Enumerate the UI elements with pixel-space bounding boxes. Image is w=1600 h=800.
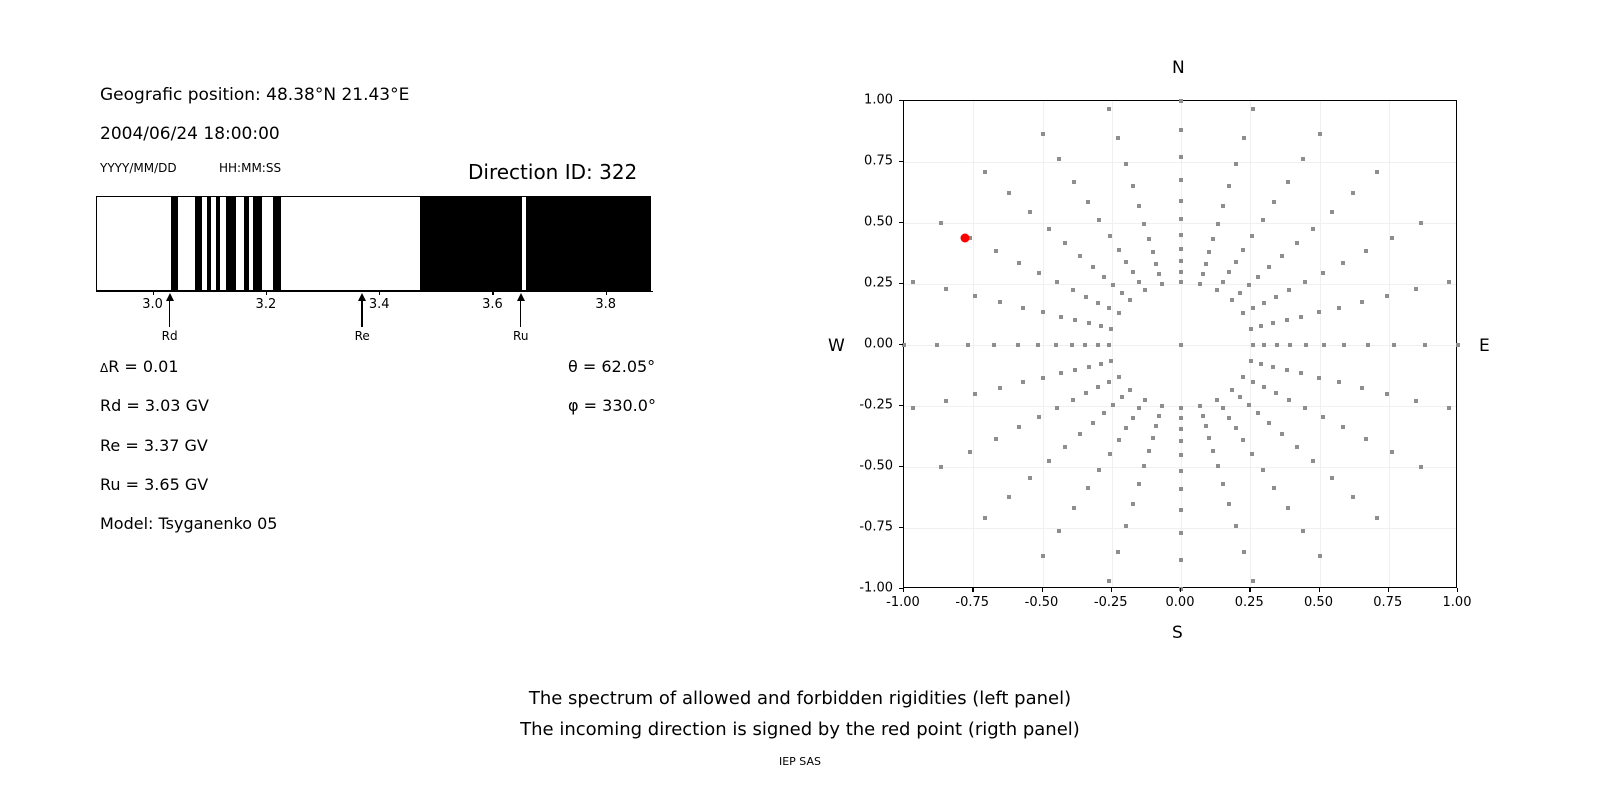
direction-node [1392, 343, 1396, 347]
direction-node [1072, 180, 1076, 184]
direction-node [1055, 406, 1059, 410]
direction-node [1241, 438, 1245, 442]
direction-node [1111, 403, 1115, 407]
direction-node [1179, 416, 1183, 420]
direction-node [1216, 222, 1220, 226]
direction-node [1179, 233, 1183, 237]
direction-node [1071, 288, 1075, 292]
direction-node [1423, 343, 1427, 347]
direction-node [1143, 288, 1147, 292]
direction-node [973, 392, 977, 396]
direction-node [994, 249, 998, 253]
direction-node [1087, 365, 1091, 369]
direction-node [1021, 380, 1025, 384]
gridline-horizontal [904, 223, 1456, 224]
direction-node [1055, 280, 1059, 284]
direction-node [1179, 531, 1183, 535]
direction-node [1341, 261, 1345, 265]
direction-node [1157, 414, 1161, 418]
direction-node [1287, 288, 1291, 292]
x-axis-tick [972, 588, 973, 592]
direction-node [1250, 452, 1254, 456]
direction-node [1259, 324, 1263, 328]
rigidity-axis-tick [492, 291, 493, 295]
geographic-position-label: Geografic position: 48.38°N 21.43°E [100, 85, 409, 105]
direction-node [939, 465, 943, 469]
direction-node [1142, 222, 1146, 226]
direction-node [1227, 416, 1231, 420]
direction-node [1124, 524, 1128, 528]
rigidity-axis-tick-label: 3.4 [369, 297, 390, 312]
rigidity-axis: 3.03.23.43.63.8RdReRu [96, 291, 653, 295]
y-axis-tick [899, 161, 903, 162]
direction-node [1047, 227, 1051, 231]
date-format-hint: YYYY/MM/DD [100, 161, 177, 175]
direction-node [1179, 427, 1183, 431]
direction-node [1304, 343, 1308, 347]
marker-arrow-ru [520, 301, 521, 327]
forbidden-band [226, 197, 236, 290]
direction-node [1272, 200, 1276, 204]
direction-node [1241, 375, 1245, 379]
direction-node [1375, 516, 1379, 520]
direction-node [1211, 449, 1215, 453]
direction-node [1311, 459, 1315, 463]
caption-line-1: The spectrum of allowed and forbidden ri… [0, 688, 1600, 709]
compass-label-east: E [1479, 336, 1490, 356]
y-axis-tick-label: -1.00 [841, 581, 893, 596]
direction-node [1102, 411, 1106, 415]
direction-node [1285, 368, 1289, 372]
direction-node [1221, 280, 1225, 284]
direction-node [1179, 259, 1183, 263]
y-axis-tick [899, 405, 903, 406]
direction-node [1286, 180, 1290, 184]
direction-node [1280, 254, 1284, 258]
direction-node [1342, 343, 1346, 347]
direction-node [1109, 359, 1113, 363]
x-axis-tick-label: 1.00 [1443, 595, 1472, 610]
direction-node [1234, 426, 1238, 430]
direction-node [1120, 291, 1124, 295]
direction-node [1301, 157, 1305, 161]
direction-node [1120, 395, 1124, 399]
direction-node [1109, 327, 1113, 331]
x-axis-tick-label: -0.25 [1094, 595, 1128, 610]
direction-node [1303, 406, 1307, 410]
direction-node [1271, 321, 1275, 325]
marker-label-re: Re [355, 329, 370, 343]
direction-node [1154, 262, 1158, 266]
direction-node [1262, 385, 1266, 389]
y-axis-tick [899, 466, 903, 467]
direction-node [1017, 425, 1021, 429]
direction-node [1337, 306, 1341, 310]
direction-node [1280, 432, 1284, 436]
direction-node [1128, 298, 1132, 302]
direction-node [911, 406, 915, 410]
direction-node [1221, 482, 1225, 486]
direction-node [1286, 506, 1290, 510]
direction-node [1204, 262, 1208, 266]
direction-node [944, 287, 948, 291]
direction-node [1179, 453, 1183, 457]
direction-node [1364, 249, 1368, 253]
direction-node [1287, 398, 1291, 402]
direction-node [1198, 282, 1202, 286]
compass-label-west: W [828, 336, 845, 356]
direction-node [1275, 343, 1279, 347]
direction-node [1317, 376, 1321, 380]
direction-node [1108, 452, 1112, 456]
direction-node [1137, 204, 1141, 208]
direction-node [1073, 318, 1077, 322]
direction-node [1124, 162, 1128, 166]
footer-credit: IEP SAS [0, 755, 1600, 768]
direction-node [1271, 365, 1275, 369]
direction-node [1216, 464, 1220, 468]
direction-node [1147, 449, 1151, 453]
direction-node [1036, 343, 1040, 347]
forbidden-band [253, 197, 262, 290]
direction-node [1207, 436, 1211, 440]
y-axis-tick-label: -0.25 [841, 398, 893, 413]
direction-node [1179, 155, 1183, 159]
direction-node [1073, 368, 1077, 372]
marker-label-ru: Ru [513, 329, 528, 343]
direction-node [1107, 306, 1111, 310]
y-axis-tick [899, 100, 903, 101]
direction-node [1179, 280, 1183, 284]
direction-node [1301, 529, 1305, 533]
rigidity-axis-tick [266, 291, 267, 295]
direction-node [1311, 227, 1315, 231]
direction-node [1251, 380, 1255, 384]
direction-node [1091, 265, 1095, 269]
marker-arrowhead-rd [166, 293, 174, 301]
direction-node [1447, 406, 1451, 410]
forbidden-band [420, 197, 522, 290]
direction-node [911, 280, 915, 284]
direction-node [1364, 437, 1368, 441]
direction-node [1028, 476, 1032, 480]
compass-label-north: N [1172, 58, 1185, 78]
direction-node [1259, 362, 1263, 366]
direction-node [1041, 554, 1045, 558]
direction-node [994, 437, 998, 441]
direction-node [1179, 99, 1183, 103]
marker-label-rd: Rd [162, 329, 178, 343]
direction-node [1230, 298, 1234, 302]
gridline-vertical [1320, 101, 1321, 587]
direction-node [1299, 315, 1303, 319]
direction-node [1059, 315, 1063, 319]
direction-node [1084, 295, 1088, 299]
forbidden-band [195, 197, 202, 290]
rigidity-axis-tick-label: 3.0 [142, 297, 163, 312]
direction-node [1261, 468, 1265, 472]
direction-node [1249, 359, 1253, 363]
y-axis-tick [899, 527, 903, 528]
forbidden-band [244, 197, 249, 290]
marker-arrow-re [361, 301, 362, 327]
direction-node [1238, 395, 1242, 399]
theta-value: θ = 62.05° [568, 357, 655, 376]
direction-id-label: Direction ID: 322 [468, 160, 637, 184]
direction-node [1057, 529, 1061, 533]
direction-node [1131, 416, 1135, 420]
gridline-vertical [1112, 101, 1113, 587]
direction-node [1028, 210, 1032, 214]
direction-node [1262, 301, 1266, 305]
direction-node [1117, 248, 1121, 252]
x-axis-tick [1180, 588, 1181, 592]
direction-node [1124, 260, 1128, 264]
direction-node [1107, 579, 1111, 583]
direction-node [1318, 132, 1322, 136]
direction-node [1251, 107, 1255, 111]
x-axis-tick [1249, 588, 1250, 592]
direction-node [1256, 275, 1260, 279]
direction-node [1447, 280, 1451, 284]
direction-node [1179, 558, 1183, 562]
direction-node [1131, 502, 1135, 506]
direction-node [1247, 283, 1251, 287]
rigidity-axis-tick [606, 291, 607, 295]
direction-node [1238, 291, 1242, 295]
plot-frame [903, 100, 1457, 588]
model-value: Model: Tsyganenko 05 [100, 514, 277, 533]
direction-node [1086, 486, 1090, 490]
phi-value: φ = 330.0° [568, 396, 656, 415]
direction-node [1057, 157, 1061, 161]
direction-node [1086, 200, 1090, 204]
forbidden-band [216, 197, 221, 290]
direction-node [1154, 424, 1158, 428]
direction-node [1385, 294, 1389, 298]
direction-node [1360, 386, 1364, 390]
direction-node [1083, 343, 1087, 347]
direction-node [939, 221, 943, 225]
x-axis-tick-label: 0.25 [1235, 595, 1264, 610]
gridline-horizontal [904, 284, 1456, 285]
x-axis-tick-label: -0.50 [1025, 595, 1059, 610]
direction-node [1099, 362, 1103, 366]
direction-node [1179, 178, 1183, 182]
direction-node [1201, 272, 1205, 276]
direction-node [1322, 343, 1326, 347]
direction-node [1091, 421, 1095, 425]
direction-node [1285, 318, 1289, 322]
direction-node [983, 516, 987, 520]
direction-node [1084, 391, 1088, 395]
direction-node [1070, 343, 1074, 347]
direction-node [1097, 468, 1101, 472]
direction-node [1117, 311, 1121, 315]
x-axis-tick [1388, 588, 1389, 592]
direction-node [1137, 406, 1141, 410]
direction-node [1124, 426, 1128, 430]
x-axis-tick-label: -1.00 [886, 595, 920, 610]
y-axis-tick-label: 0.50 [841, 215, 893, 230]
direction-node [1179, 406, 1183, 410]
delta-r-value: ΔR = 0.01 [100, 357, 179, 376]
y-axis-tick-label: 0.00 [841, 337, 893, 352]
direction-node [1116, 550, 1120, 554]
compass-label-south: S [1172, 623, 1183, 643]
direction-node [1099, 324, 1103, 328]
direction-node [1016, 343, 1020, 347]
direction-node [1318, 554, 1322, 558]
direction-node [1360, 300, 1364, 304]
direction-node [1251, 343, 1255, 347]
y-axis-tick [899, 344, 903, 345]
direction-node [1179, 247, 1183, 251]
gridline-horizontal [904, 528, 1456, 529]
direction-node [1419, 465, 1423, 469]
rigidity-axis-tick [153, 291, 154, 295]
direction-node [998, 300, 1002, 304]
direction-node [1063, 445, 1067, 449]
direction-node [992, 343, 996, 347]
direction-node [1390, 236, 1394, 240]
direction-node [1249, 327, 1253, 331]
direction-node [1007, 191, 1011, 195]
direction-node [1272, 486, 1276, 490]
direction-node [944, 399, 948, 403]
direction-node [1160, 282, 1164, 286]
direction-node [1241, 248, 1245, 252]
marker-arrowhead-ru [517, 293, 525, 301]
direction-node [1151, 250, 1155, 254]
direction-node [1204, 424, 1208, 428]
direction-node [1227, 502, 1231, 506]
direction-node [966, 343, 970, 347]
datetime-label: 2004/06/24 18:00:00 [100, 124, 280, 144]
x-axis-tick [1319, 588, 1320, 592]
direction-node [1234, 162, 1238, 166]
direction-node [1201, 414, 1205, 418]
direction-node [1096, 343, 1100, 347]
forbidden-band [207, 197, 212, 290]
direction-node [1295, 445, 1299, 449]
direction-node [1330, 476, 1334, 480]
direction-node [1207, 250, 1211, 254]
rigidity-axis-line [96, 291, 653, 292]
direction-node [1227, 184, 1231, 188]
y-axis-tick-label: -0.75 [841, 520, 893, 535]
direction-node [983, 170, 987, 174]
direction-node [1390, 450, 1394, 454]
direction-node [1097, 218, 1101, 222]
direction-node [1047, 459, 1051, 463]
direction-node [1017, 261, 1021, 265]
direction-node [1072, 506, 1076, 510]
x-axis-tick [1111, 588, 1112, 592]
direction-node [1261, 218, 1265, 222]
direction-node [973, 294, 977, 298]
direction-node [998, 386, 1002, 390]
direction-node [1241, 311, 1245, 315]
direction-scatter-panel: 1.000.750.500.250.00-0.25-0.50-0.75-1.00 [903, 100, 1457, 588]
x-axis-tick-label: 0.00 [1166, 595, 1195, 610]
direction-node [1063, 241, 1067, 245]
direction-node [1317, 310, 1321, 314]
direction-node [1102, 275, 1106, 279]
direction-node [1143, 398, 1147, 402]
direction-node [1096, 385, 1100, 389]
x-axis-tick [1457, 588, 1458, 592]
direction-node [1337, 380, 1341, 384]
direction-node [1059, 371, 1063, 375]
direction-node [1107, 343, 1111, 347]
direction-node [1071, 398, 1075, 402]
direction-node [1366, 343, 1370, 347]
direction-node [1414, 287, 1418, 291]
direction-node [1137, 280, 1141, 284]
direction-node [1007, 495, 1011, 499]
direction-node [1179, 508, 1183, 512]
ru-value: Ru = 3.65 GV [100, 475, 208, 494]
direction-node [1147, 237, 1151, 241]
direction-node [1330, 210, 1334, 214]
rigidity-spectrum-bar [96, 196, 651, 291]
direction-node [1131, 270, 1135, 274]
rd-value: Rd = 3.03 GV [100, 396, 209, 415]
direction-node [1087, 321, 1091, 325]
direction-node [1267, 265, 1271, 269]
direction-node [1274, 391, 1278, 395]
incoming-direction-point [960, 233, 969, 242]
direction-node [1179, 469, 1183, 473]
direction-node [1230, 388, 1234, 392]
re-value: Re = 3.37 GV [100, 436, 208, 455]
direction-node [1251, 306, 1255, 310]
direction-node [935, 343, 939, 347]
x-axis-tick [1042, 588, 1043, 592]
y-axis-tick-label: 0.75 [841, 154, 893, 169]
direction-node [1242, 136, 1246, 140]
direction-node [1288, 343, 1292, 347]
marker-arrow-rd [169, 301, 170, 327]
forbidden-band [273, 197, 281, 290]
direction-node [1215, 398, 1219, 402]
direction-node [1078, 432, 1082, 436]
direction-node [1247, 403, 1251, 407]
rigidity-spectrum-panel [96, 196, 651, 291]
direction-node [1037, 271, 1041, 275]
direction-node [1041, 132, 1045, 136]
direction-node [1234, 524, 1238, 528]
direction-node [1107, 107, 1111, 111]
direction-node [1234, 260, 1238, 264]
direction-node [1250, 234, 1254, 238]
direction-node [1116, 136, 1120, 140]
direction-node [1456, 343, 1460, 347]
gridline-vertical [1043, 101, 1044, 587]
direction-node [1221, 406, 1225, 410]
direction-node [1341, 425, 1345, 429]
direction-node [1321, 271, 1325, 275]
direction-node [1419, 221, 1423, 225]
direction-node [1351, 495, 1355, 499]
direction-node [1117, 438, 1121, 442]
direction-node [1221, 204, 1225, 208]
direction-node [1160, 404, 1164, 408]
direction-node [1021, 306, 1025, 310]
direction-node [1262, 343, 1266, 347]
direction-node [1179, 343, 1183, 347]
